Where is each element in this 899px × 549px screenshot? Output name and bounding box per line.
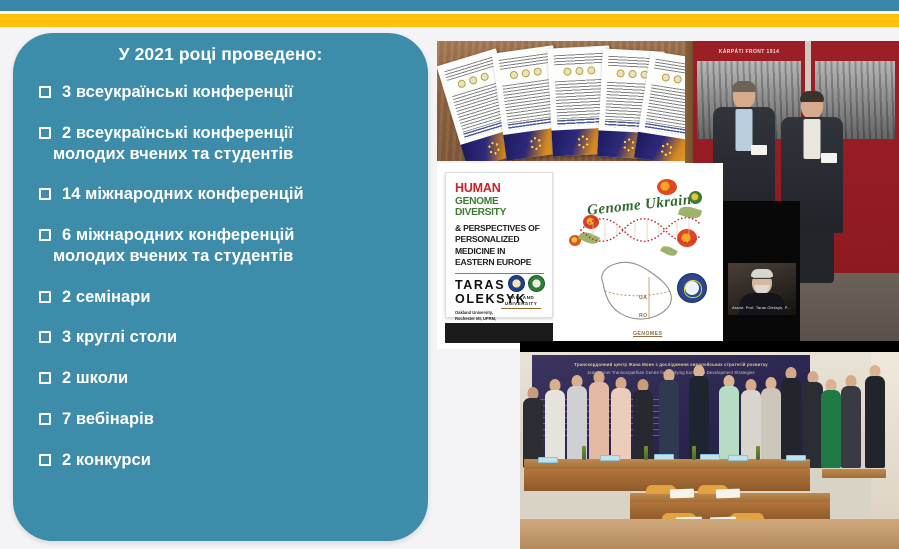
achievements-list: 3 всеукраїнські конференції 2 всеукраїнс… (39, 82, 418, 491)
video-participant-name: Assist. Prof. Taras Oleksyk, P... (732, 305, 791, 310)
water-bottle (582, 446, 586, 460)
list-item-text: 2 всеукраїнські конференції молодих вчен… (62, 123, 293, 165)
list-item-text: 6 міжнародних конференцій молодих вчених… (62, 225, 295, 267)
name-plate (538, 457, 558, 463)
folk-flower-icon (689, 191, 702, 204)
list-item-line1: 3 круглі столи (62, 328, 177, 346)
folk-flower-icon (657, 179, 677, 195)
checkbox-square-icon (39, 188, 51, 200)
top-teal-bar (0, 0, 899, 11)
water-bottle (756, 446, 760, 460)
checkbox-square-icon (39, 413, 51, 425)
list-item-line1: 6 міжнародних конференцій (62, 226, 295, 244)
list-item: 2 семінари (39, 287, 418, 308)
list-item: 3 всеукраїнські конференції (39, 82, 418, 103)
list-item-line1: 3 всеукраїнські конференції (62, 83, 293, 101)
uzhnu-blue-gold-emblem-icon (677, 273, 707, 303)
person-figure (632, 379, 654, 471)
list-item: 2 конкурси (39, 450, 418, 471)
poster-divider (455, 273, 544, 274)
panel-title: У 2021 році проведено: (13, 44, 428, 65)
banner-text-ukrainian: Транскордонний центр Жана Моне з дослідж… (532, 362, 810, 367)
poster-subtitle: & PERSPECTIVES OF PERSONALIZED MEDICINE … (455, 223, 544, 268)
photo-top-black-strip (520, 341, 899, 352)
checkbox-square-icon (39, 331, 51, 343)
list-item-text: 3 круглі столи (62, 327, 177, 348)
list-item-line1: 2 школи (62, 369, 128, 387)
name-plate (600, 455, 620, 461)
list-item-line2: молодих вчених та студентів (53, 144, 293, 165)
lecture-desk (822, 469, 886, 478)
list-item: 7 вебінарів (39, 409, 418, 430)
checkbox-square-icon (39, 229, 51, 241)
top-yellow-bar (0, 14, 899, 27)
transcarpathia-map-outline (593, 255, 679, 325)
map-label-genomes: GENOMES (633, 331, 662, 337)
name-plate (654, 454, 674, 460)
list-item-text: 2 школи (62, 368, 128, 389)
person-figure (864, 365, 886, 471)
poster-title-human: HUMAN (455, 182, 544, 195)
list-item-line1: 14 міжнародних конференцій (62, 185, 304, 203)
checkbox-square-icon (39, 291, 51, 303)
person-figure (840, 375, 862, 471)
person-figure (820, 379, 842, 471)
water-bottle (692, 446, 696, 460)
list-item-text: 7 вебінарів (62, 409, 154, 430)
list-item-line2: молодих вчених та студентів (53, 246, 295, 267)
video-participant-tile: Assist. Prof. Taras Oleksyk, P... (728, 263, 796, 315)
green-emblem-icon (528, 275, 545, 292)
poster-title-genome-diversity: GENOME DIVERSITY (455, 196, 544, 219)
water-bottle (644, 446, 648, 460)
list-item-line1: 2 семінари (62, 288, 151, 306)
name-plate (786, 455, 806, 461)
photo-genome-ukraine-graphic: Genome Ukraine (561, 163, 723, 349)
list-item-text: 2 конкурси (62, 450, 151, 471)
checkbox-square-icon (39, 454, 51, 466)
uzhnu-emblem-icon (508, 275, 525, 292)
list-item-text: 3 всеукраїнські конференції (62, 82, 293, 103)
list-item: 2 всеукраїнські конференції молодих вчен… (39, 123, 418, 165)
photo-collage: KÁRPÁTI FRONT 1914 KARPATOCH ELŐŐRS 1914… (437, 41, 899, 549)
lecture-desk (524, 459, 810, 469)
photo-conference-poster: HUMAN GENOME DIVERSITY & PERSPECTIVES OF… (437, 163, 561, 349)
achievements-panel: У 2021 році проведено: 3 всеукраїнські к… (13, 33, 428, 541)
person-figure (760, 377, 782, 471)
list-item: 6 міжнародних конференцій молодих вчених… (39, 225, 418, 267)
poster-card: HUMAN GENOME DIVERSITY & PERSPECTIVES OF… (445, 172, 553, 318)
list-item-line1: 2 конкурси (62, 451, 151, 469)
list-item: 3 круглі столи (39, 327, 418, 348)
list-item-text: 14 міжнародних конференцій (62, 184, 304, 205)
presentation-slide: У 2021 році проведено: 3 всеукраїнські к… (0, 0, 899, 549)
list-item-text: 2 семінари (62, 287, 151, 308)
dna-helix-icon (579, 215, 701, 245)
list-item-line1: 2 всеукраїнські конференції (62, 124, 293, 142)
photo-group-lecture-hall: Транскордонний центр Жана Моне з дослідж… (520, 341, 899, 549)
checkbox-square-icon (39, 372, 51, 384)
map-label-ua: UA (639, 295, 647, 301)
list-item: 2 школи (39, 368, 418, 389)
banner-heading: KÁRPÁTI FRONT 1914 (697, 46, 801, 57)
checkbox-square-icon (39, 127, 51, 139)
lecture-hall-floor (520, 519, 899, 549)
list-item: 14 міжнародних конференцій (39, 184, 418, 205)
photo-conference-certificates (437, 41, 685, 161)
checkbox-square-icon (39, 86, 51, 98)
list-item-line1: 7 вебінарів (62, 410, 154, 428)
paper-sheet (670, 489, 694, 499)
map-label-ro: RO (639, 313, 648, 319)
paper-sheet (716, 489, 740, 499)
name-plate (728, 455, 748, 461)
poster-university: OAKLAND UNIVERSITY (497, 295, 545, 306)
poster-logos: OAKLAND UNIVERSITY (497, 275, 545, 309)
poster-dark-strip (445, 323, 553, 343)
poster-university-rule (501, 308, 541, 309)
name-plate (700, 454, 720, 460)
